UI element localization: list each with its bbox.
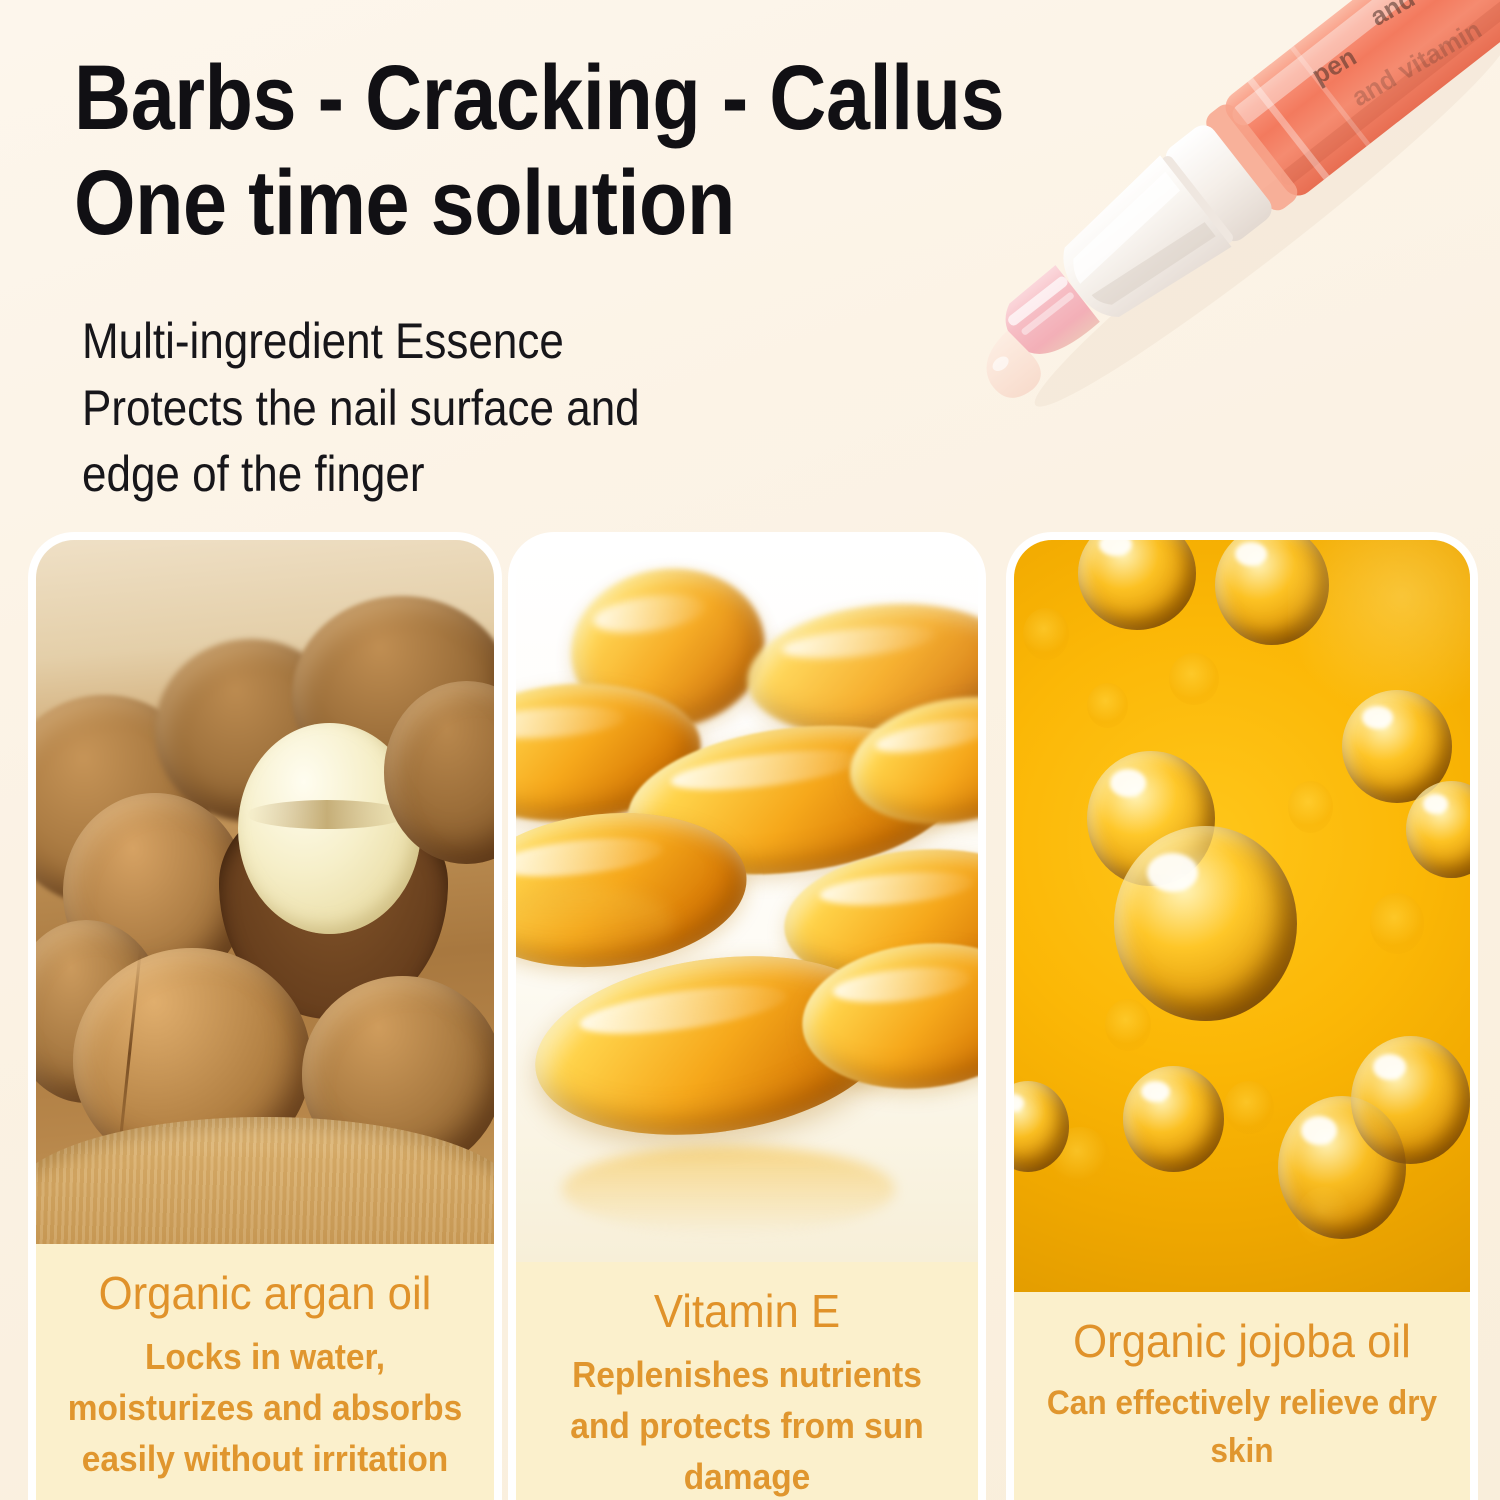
ingredient-card-jojoba[interactable]: Organic jojoba oil Can effectively relie…	[1006, 532, 1478, 1500]
vitamin-e-softgel-capsules-photo	[516, 540, 978, 1262]
ingredient-caption-argan: Organic argan oil Locks in water, moistu…	[36, 1244, 494, 1500]
ingredient-card-row: Organic argan oil Locks in water, moistu…	[0, 0, 1500, 1500]
ingredient-description: Locks in water, moisturizes and absorbs …	[59, 1331, 470, 1484]
golden-jojoba-oil-bubbles-photo	[1014, 540, 1470, 1292]
ingredient-description: Can effectively relieve dry skin	[1037, 1379, 1446, 1476]
ingredient-card-vitamin-e[interactable]: Vitamin E Replenishes nutrients and prot…	[508, 532, 986, 1500]
macadamia-nuts-in-wooden-bowl-photo	[36, 540, 494, 1244]
ingredient-description: Replenishes nutrients and protects from …	[540, 1349, 955, 1500]
ingredient-caption-vitamin-e: Vitamin E Replenishes nutrients and prot…	[516, 1262, 978, 1500]
product-marketing-poster: Barbs - Cracking - Callus One time solut…	[0, 0, 1500, 1500]
ingredient-card-argan[interactable]: Organic argan oil Locks in water, moistu…	[28, 532, 502, 1500]
ingredient-title: Organic jojoba oil	[1033, 1312, 1451, 1371]
ingredient-title: Vitamin E	[535, 1282, 959, 1341]
ingredient-caption-jojoba: Organic jojoba oil Can effectively relie…	[1014, 1292, 1470, 1500]
ingredient-title: Organic argan oil	[55, 1264, 475, 1323]
